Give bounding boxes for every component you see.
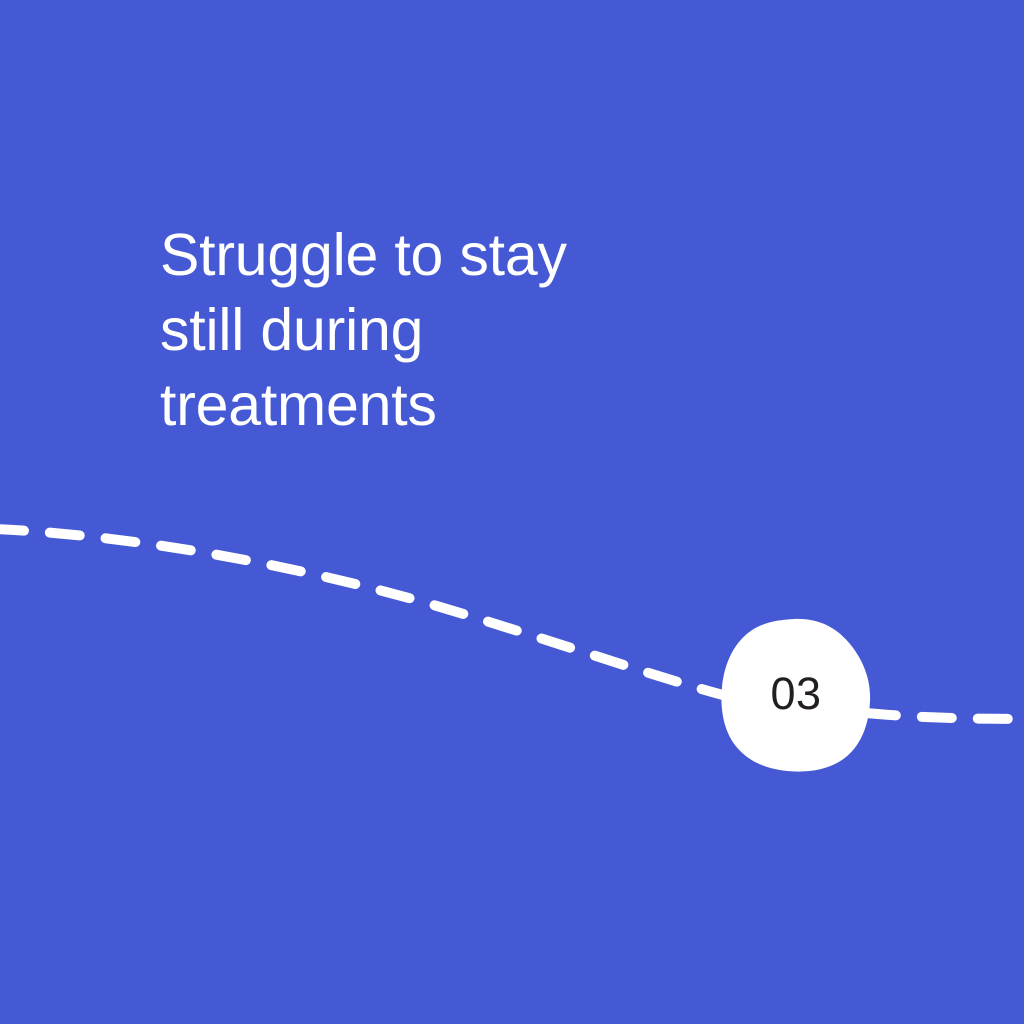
connector-segment-left <box>0 529 723 695</box>
step-number-label: 03 <box>720 617 872 773</box>
dashed-connector-line <box>0 0 1024 1024</box>
connector-segment-right <box>866 713 1024 719</box>
slide-canvas: Struggle to stay still during treatments… <box>0 0 1024 1024</box>
page-title: Struggle to stay still during treatments <box>160 218 780 443</box>
step-number-badge[interactable]: 03 <box>720 617 872 773</box>
